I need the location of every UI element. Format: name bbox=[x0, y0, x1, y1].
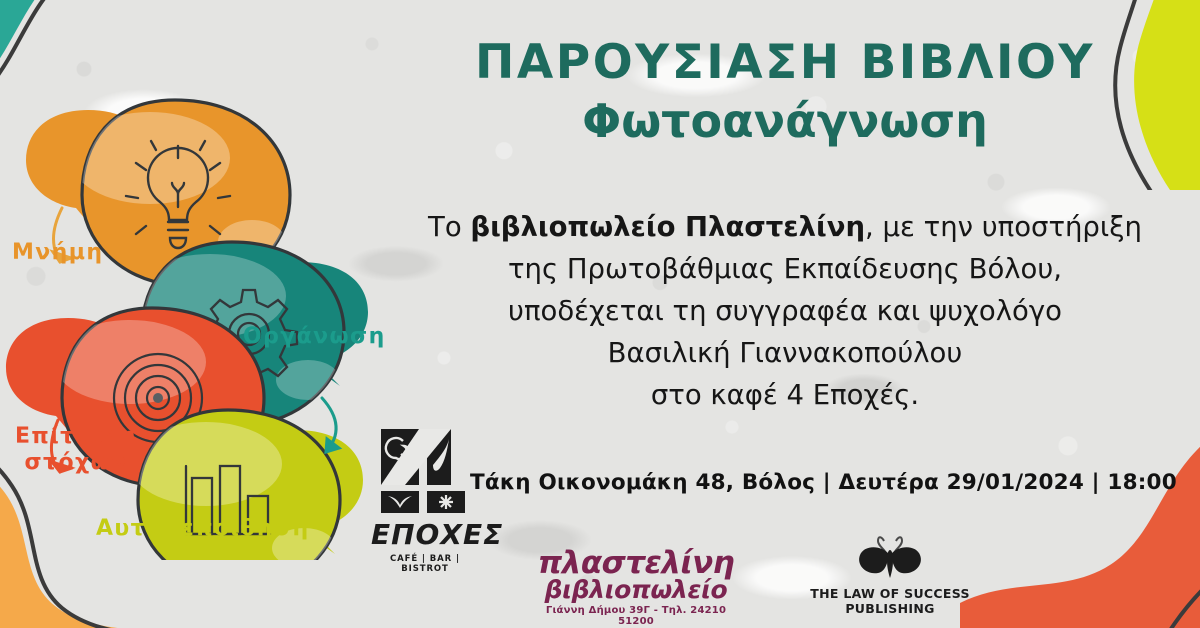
logo-bookstore-plastelini[interactable]: πλαστελίνη βιβλιοπωλείο Γιάννη Δήμου 39Γ… bbox=[536, 548, 736, 627]
speech-bubble-cluster bbox=[0, 80, 400, 560]
bookstore-contact: Γιάννη Δήμου 39Γ - Τηλ. 24210 51200 bbox=[536, 605, 736, 627]
publisher-line-2: PUBLISHING bbox=[790, 601, 990, 616]
body-line-1: Το βιβλιοπωλείο Πλαστελίνη, με την υποστ… bbox=[385, 206, 1185, 248]
body-line-3: υποδέχεται τη συγγραφέα και ψυχολόγο bbox=[385, 290, 1185, 332]
body-line-2: της Πρωτοβάθμιας Εκπαίδευσης Βόλου, bbox=[385, 248, 1185, 290]
logo-cafe-4-epoxes[interactable]: ΕΠΟΧΕΣ CAFÉ | BAR | BISTROT bbox=[371, 425, 479, 574]
logo-publisher-law-of-success[interactable]: THE LAW OF SUCCESS PUBLISHING bbox=[790, 535, 990, 616]
body-line-5: στο καφέ 4 Εποχές. bbox=[385, 374, 1185, 416]
poster-title: ΠΑΡΟΥΣΙΑΣΗ ΒΙΒΛΙΟΥ bbox=[390, 38, 1180, 89]
body-line-1-suffix: , με την υποστήριξη bbox=[865, 211, 1142, 243]
publisher-line-1: THE LAW OF SUCCESS bbox=[790, 586, 990, 601]
poster-subtitle: Φωτοανάγνωση bbox=[390, 95, 1180, 148]
event-poster: ΠΑΡΟΥΣΙΑΣΗ ΒΙΒΛΙΟΥ Φωτοανάγνωση Το βιβλι… bbox=[0, 0, 1200, 628]
body-line-4: Βασιλική Γιαννακοπούλου bbox=[385, 332, 1185, 374]
bubble-label-goals: Επίτευξη στόχων bbox=[6, 424, 146, 476]
corner-blob-bottom-right bbox=[960, 388, 1200, 628]
headline-block: ΠΑΡΟΥΣΙΑΣΗ ΒΙΒΛΙΟΥ Φωτοανάγνωση bbox=[390, 38, 1180, 148]
bookstore-name-emphasis: βιβλιοπωλείο Πλαστελίνη bbox=[470, 211, 865, 243]
bubble-label-confidence: Αυτοπεποίθηση bbox=[96, 516, 310, 542]
cafe-tagline: CAFÉ | BAR | BISTROT bbox=[371, 554, 479, 574]
bubble-label-organization: Οργάνωση bbox=[243, 324, 386, 350]
poster-body-text: Το βιβλιοπωλείο Πλαστελίνη, με την υποστ… bbox=[385, 206, 1185, 416]
body-line-1-prefix: Το bbox=[428, 211, 470, 243]
butterfly-icon bbox=[854, 535, 926, 583]
four-seasons-mark-icon bbox=[375, 425, 475, 515]
bubble-label-memory: Μνήμη bbox=[12, 240, 103, 266]
cafe-wordmark: ΕΠΟΧΕΣ bbox=[371, 518, 479, 551]
venue-date-line: Τάκη Οικονομάκη 48, Βόλος | Δευτέρα 29/0… bbox=[470, 470, 1120, 495]
bookstore-subtitle: βιβλιοπωλείο bbox=[536, 577, 736, 603]
